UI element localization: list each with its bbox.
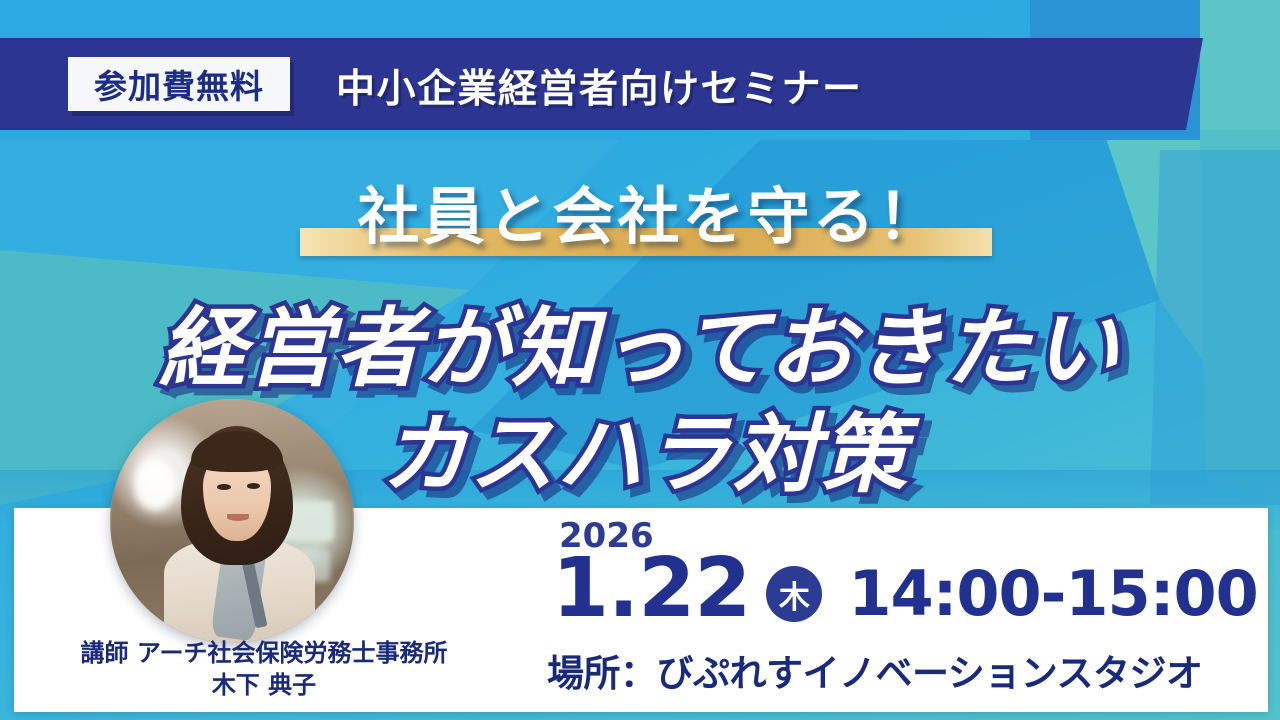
speaker-name: 木下 典子	[14, 670, 514, 702]
headline-line-1-text: 社員と会社を守る！	[357, 180, 942, 253]
speaker-caption: 講師 アーチ社会保険労務士事務所 木下 典子	[14, 638, 514, 701]
headline-line-1: 社員と会社を守る！	[0, 166, 1280, 256]
photo-lamp-bokeh	[134, 458, 175, 512]
headline-line-3-text: カスハラ対策	[381, 405, 909, 505]
photo-eye-right	[247, 483, 260, 489]
free-admission-badge-label: 参加費無料	[94, 60, 264, 108]
speaker-org: 講師 アーチ社会保険労務士事務所	[14, 638, 514, 670]
speaker-photo	[110, 399, 354, 643]
free-admission-badge: 参加費無料	[68, 57, 290, 111]
event-date: 1.22	[552, 548, 750, 630]
photo-mouth	[227, 514, 249, 521]
seminar-banner: 参加費無料 中小企業経営者向けセミナー 社員と会社を守る！ 経営者が知っておきた…	[0, 0, 1280, 720]
seminar-subtitle: 中小企業経営者向けセミナー	[336, 58, 863, 114]
event-venue: 場所：びぷれすイノベーションスタジオ	[547, 643, 1203, 697]
speaker-photo-image	[110, 399, 354, 643]
event-time: 14:00-15:00	[848, 557, 1257, 630]
event-weekday-badge: 木	[766, 566, 822, 622]
event-date-row: 1.22 木 14:00-15:00	[552, 548, 1258, 630]
